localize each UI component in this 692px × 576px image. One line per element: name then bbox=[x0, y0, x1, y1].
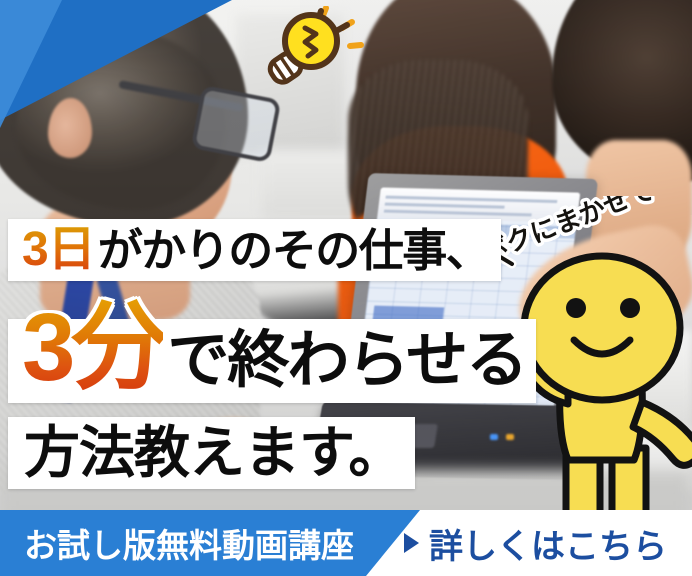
headline-line-2: 3分 で終わらせる bbox=[8, 319, 536, 403]
headline-1-number: 3日 bbox=[22, 226, 95, 274]
cta-link-label: 詳しくはこちら bbox=[429, 519, 667, 568]
mascot-eye-right bbox=[620, 298, 640, 318]
cta-link[interactable]: 詳しくはこちら bbox=[404, 510, 692, 576]
headline-line-3: 方法教えます。 bbox=[8, 417, 415, 489]
cta-bar: お試し版無料動画講座 詳しくはこちら bbox=[0, 510, 692, 576]
toolbar-row bbox=[385, 196, 557, 204]
headline-line-1: 3日 がかりのその仕事、 bbox=[8, 219, 501, 281]
headline-1-text: がかりのその仕事、 bbox=[98, 228, 490, 273]
play-triangle-icon bbox=[404, 533, 419, 553]
man-ear bbox=[48, 98, 92, 158]
headline-3-text: 方法教えます。 bbox=[24, 425, 403, 481]
headline-2-number: 3分 bbox=[22, 294, 163, 401]
headline-2-text: で終わらせる bbox=[167, 330, 526, 392]
cta-primary-label: お試し版無料動画講座 bbox=[24, 519, 354, 567]
headline-2-number-wrap: 3分 bbox=[22, 313, 167, 409]
mascot-eye-left bbox=[566, 298, 586, 318]
toolbar-row bbox=[384, 210, 532, 217]
ad-banner: ボクにまかせて ボクにまかせて bbox=[0, 0, 692, 576]
lightbulb-icon bbox=[258, 6, 364, 90]
screen-toolbar bbox=[377, 187, 580, 222]
toolbar-row bbox=[385, 203, 505, 209]
cta-primary-button[interactable]: お試し版無料動画講座 bbox=[0, 510, 420, 576]
